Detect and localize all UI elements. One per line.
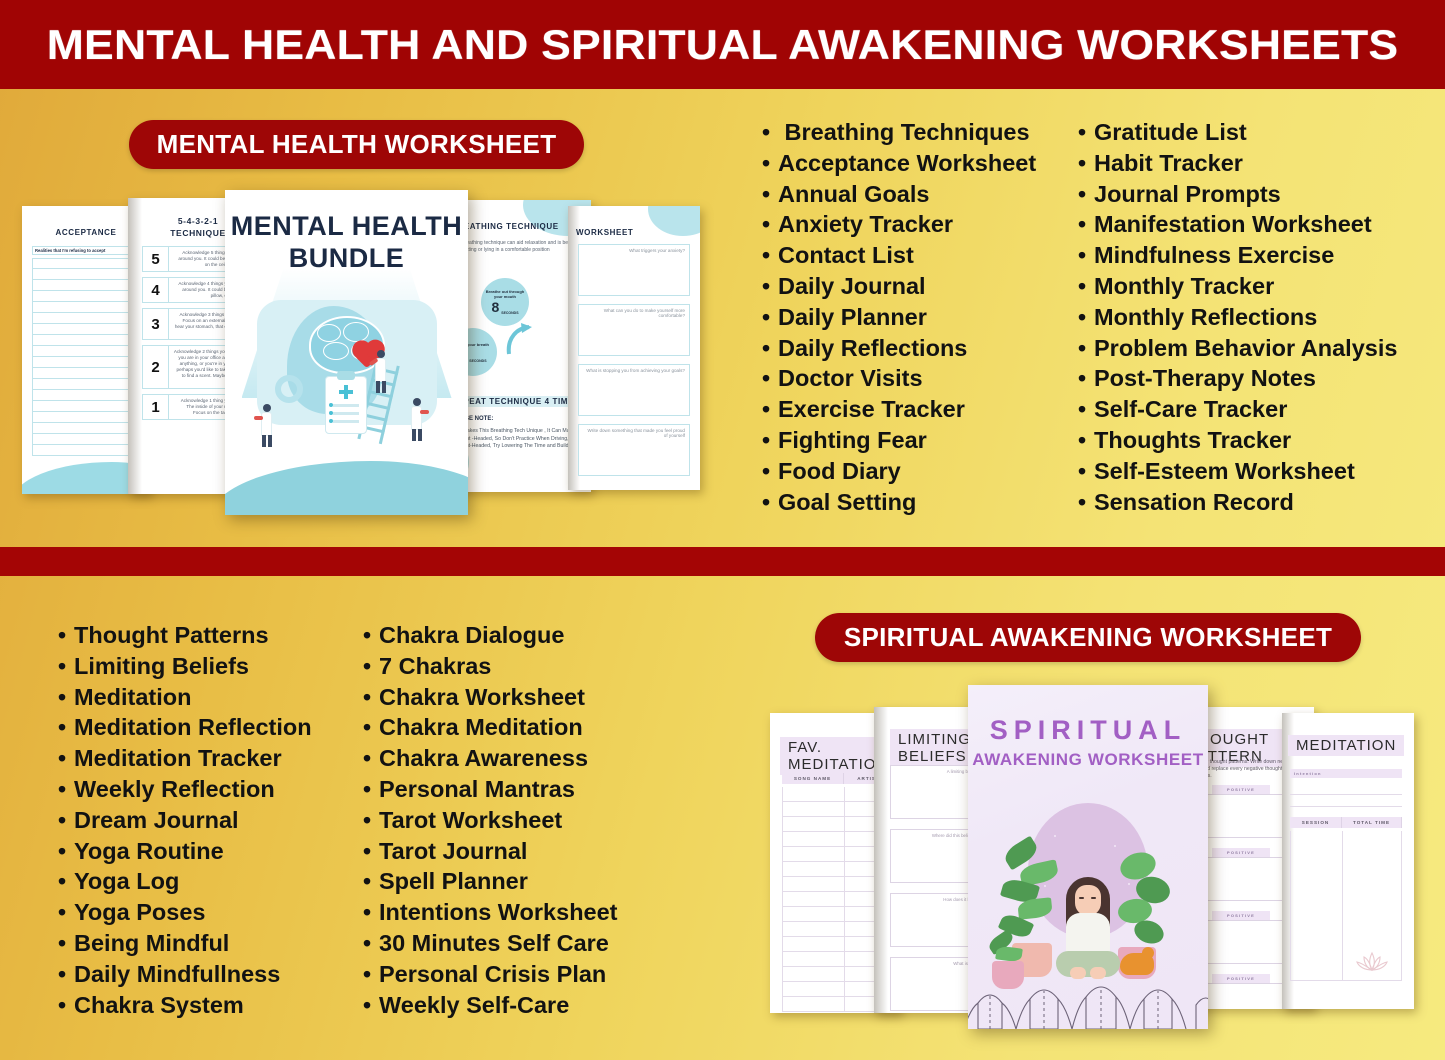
mockup-sheet-meditation: MEDITATION Intention SESSION TOTAL TIME <box>1282 713 1414 1009</box>
bullet-icon: • <box>1078 302 1094 333</box>
list-item-label: Chakra Awareness <box>379 743 588 774</box>
mental-health-mockup-group: ACCEPTANCE Realities that I'm refusing t… <box>18 190 718 515</box>
breathing-heading: BREATHING TECHNIQUE <box>451 222 587 231</box>
bullet-icon: • <box>58 897 74 928</box>
positive-tag: POSITIVE <box>1212 785 1270 794</box>
bullet-icon: • <box>58 836 74 867</box>
lotus-watermark-icon <box>1354 949 1390 973</box>
question-box: What can you do to make yourself more co… <box>578 304 690 356</box>
list-item: • Breathing Techniques <box>762 117 1036 148</box>
bullet-icon: • <box>58 959 74 990</box>
list-item-label: Manifestation Worksheet <box>1094 209 1372 240</box>
bullet-icon: • <box>363 774 379 805</box>
list-item-label: Chakra System <box>74 990 244 1021</box>
question-box: Write down something that made you feel … <box>578 424 690 476</box>
list-item-label: Yoga Routine <box>74 836 224 867</box>
cover-title: MENTAL HEALTH BUNDLE <box>225 210 468 274</box>
mockup-sheet-questions: WORKSHEET What triggers your anxiety?Wha… <box>568 206 700 490</box>
list-item: •Yoga Poses <box>58 897 312 928</box>
list-item-label: Chakra Dialogue <box>379 620 564 651</box>
list-item-label: Meditation Reflection <box>74 712 312 743</box>
bullet-icon: • <box>1078 333 1094 364</box>
meditation-intention-label: Intention <box>1290 769 1402 778</box>
list-item-label: Fighting Fear <box>778 425 927 456</box>
bullet-icon: • <box>762 179 778 210</box>
list-item: •Doctor Visits <box>762 363 1036 394</box>
mockup-cover-mental-health-bundle: MENTAL HEALTH BUNDLE <box>225 190 468 515</box>
technique-row-number: 4 <box>143 278 169 302</box>
list-item: •Goal Setting <box>762 487 1036 518</box>
bullet-icon: • <box>1078 117 1094 148</box>
list-item: •Dream Journal <box>58 805 312 836</box>
list-item: •Yoga Routine <box>58 836 312 867</box>
spiritual-awakening-worksheet-badge: SPIRITUAL AWAKENING WORKSHEET <box>815 613 1361 662</box>
list-item: •Chakra Meditation <box>363 712 618 743</box>
breathing-circle-1-unit: SECONDS <box>501 311 518 315</box>
list-item: •Daily Reflections <box>762 333 1036 364</box>
list-item-label: Mindfulness Exercise <box>1094 240 1334 271</box>
list-item-label: Daily Reflections <box>778 333 967 364</box>
list-item: •Thoughts Tracker <box>1078 425 1397 456</box>
question-box: What is stopping you from achieving your… <box>578 364 690 416</box>
list-item-label: Dream Journal <box>74 805 239 836</box>
breathing-arrow-icon <box>505 322 535 356</box>
bullet-icon: • <box>58 928 74 959</box>
positive-tag: POSITIVE <box>1212 974 1270 983</box>
bullet-icon: • <box>1078 363 1094 394</box>
list-item: •Daily Mindfullness <box>58 959 312 990</box>
technique-row-number: 3 <box>143 309 169 339</box>
column-header-song-name: SONG NAME <box>782 773 844 784</box>
bullet-icon: • <box>363 805 379 836</box>
list-item: •Being Mindful <box>58 928 312 959</box>
list-item: •Exercise Tracker <box>762 394 1036 425</box>
list-item: •Annual Goals <box>762 179 1036 210</box>
poster-canvas: MENTAL HEALTH AND SPIRITUAL AWAKENING WO… <box>0 0 1445 1060</box>
bullet-icon: • <box>363 959 379 990</box>
list-item-label: Journal Prompts <box>1094 179 1281 210</box>
list-item-label: Sensation Record <box>1094 487 1294 518</box>
bullet-icon: • <box>363 620 379 651</box>
breathing-circle-1: Breathe out through your mouth 8 SECONDS <box>481 278 529 326</box>
list-item-label: Weekly Reflection <box>74 774 275 805</box>
spiritual-awakening-list-column-2: •Chakra Dialogue•7 Chakras•Chakra Worksh… <box>363 620 618 1020</box>
list-item: •Tarot Journal <box>363 836 618 867</box>
list-item: •Self-Esteem Worksheet <box>1078 456 1397 487</box>
list-item-label: Thoughts Tracker <box>1094 425 1291 456</box>
bullet-icon: • <box>363 897 379 928</box>
list-item-label: Exercise Tracker <box>778 394 965 425</box>
bullet-icon: • <box>58 774 74 805</box>
list-item-label: 7 Chakras <box>379 651 491 682</box>
list-item-label: Chakra Meditation <box>379 712 583 743</box>
list-item-label: Breathing Techniques <box>778 117 1030 148</box>
list-item-label: Goal Setting <box>778 487 916 518</box>
list-item: •Personal Mantras <box>363 774 618 805</box>
list-item: •Acceptance Worksheet <box>762 148 1036 179</box>
list-item: •Meditation Tracker <box>58 743 312 774</box>
acceptance-lines <box>32 258 142 456</box>
page-title: MENTAL HEALTH AND SPIRITUAL AWAKENING WO… <box>47 21 1399 69</box>
list-item: •Tarot Worksheet <box>363 805 618 836</box>
bullet-icon: • <box>762 456 778 487</box>
list-item-label: Personal Mantras <box>379 774 575 805</box>
list-item-label: Intentions Worksheet <box>379 897 618 928</box>
technique-row-number: 1 <box>143 395 169 419</box>
technique-row-number: 5 <box>143 247 169 271</box>
mental-health-worksheet-badge: MENTAL HEALTH WORKSHEET <box>129 120 584 169</box>
bullet-icon: • <box>363 712 379 743</box>
list-item-label: Anxiety Tracker <box>778 209 953 240</box>
list-item-label: Habit Tracker <box>1094 148 1243 179</box>
list-item-label: Daily Mindfullness <box>74 959 280 990</box>
list-item: •Thought Patterns <box>58 620 312 651</box>
list-item: •Personal Crisis Plan <box>363 959 618 990</box>
bullet-icon: • <box>363 651 379 682</box>
list-item: •Intentions Worksheet <box>363 897 618 928</box>
bullet-icon: • <box>363 928 379 959</box>
list-item: •Habit Tracker <box>1078 148 1397 179</box>
column-header-session: SESSION <box>1290 817 1342 828</box>
cover-title-line-1: MENTAL HEALTH <box>225 210 468 242</box>
list-item: •Manifestation Worksheet <box>1078 209 1397 240</box>
list-item: •Meditation <box>58 682 312 713</box>
bullet-icon: • <box>58 990 74 1021</box>
list-item: •30 Minutes Self Care <box>363 928 618 959</box>
list-item: •Daily Journal <box>762 271 1036 302</box>
list-item: •Fighting Fear <box>762 425 1036 456</box>
section-divider <box>0 547 1445 576</box>
list-item-label: Thought Patterns <box>74 620 269 651</box>
list-item-label: Doctor Visits <box>778 363 923 394</box>
list-item-label: Yoga Poses <box>74 897 205 928</box>
list-item: •Contact List <box>762 240 1036 271</box>
list-item-label: Post-Therapy Notes <box>1094 363 1316 394</box>
breathing-intro: This breathing technique can aid relaxat… <box>451 240 583 254</box>
breathing-circle-1-caption: Breathe out through your mouth <box>481 289 529 299</box>
list-item: •Sensation Record <box>1078 487 1397 518</box>
spiritual-awakening-mockup-group: FAV. MEDITATION SONG NAME ARTIST LIMITIN… <box>762 685 1432 1035</box>
bullet-icon: • <box>363 866 379 897</box>
question-box: What triggers your anxiety? <box>578 244 690 296</box>
bullet-icon: • <box>1078 240 1094 271</box>
technique-row-number: 2 <box>143 346 169 388</box>
list-item-label: Limiting Beliefs <box>74 651 249 682</box>
list-item-label: Food Diary <box>778 456 901 487</box>
list-item: •Anxiety Tracker <box>762 209 1036 240</box>
bullet-icon: • <box>58 866 74 897</box>
list-item: •Chakra Awareness <box>363 743 618 774</box>
list-item-label: Contact List <box>778 240 914 271</box>
list-item-label: Daily Planner <box>778 302 927 333</box>
bullet-icon: • <box>1078 456 1094 487</box>
meditation-table-header: SESSION TOTAL TIME <box>1290 817 1402 828</box>
bullet-icon: • <box>58 712 74 743</box>
breathing-circle-1-value: 8 <box>491 299 499 315</box>
bullet-icon: • <box>58 743 74 774</box>
bullet-icon: • <box>1078 148 1094 179</box>
bullet-icon: • <box>58 805 74 836</box>
cover-wave-dark <box>225 461 468 515</box>
list-item-label: Acceptance Worksheet <box>778 148 1036 179</box>
breathing-note-body: What Makes This Breathing Tech Unique , … <box>449 428 585 458</box>
bullet-icon: • <box>762 487 778 518</box>
list-item-label: Meditation <box>74 682 192 713</box>
list-item: •Chakra Dialogue <box>363 620 618 651</box>
bullet-icon: • <box>762 117 778 148</box>
breathing-repeat-note: REPEAT TECHNIQUE 4 TIMES <box>449 396 587 407</box>
bullet-icon: • <box>1078 425 1094 456</box>
bullet-icon: • <box>1078 209 1094 240</box>
acceptance-subheading: Realities that I'm refusing to accept <box>32 246 142 255</box>
bullet-icon: • <box>762 425 778 456</box>
column-header-total-time: TOTAL TIME <box>1342 817 1402 828</box>
list-item: •Food Diary <box>762 456 1036 487</box>
bullet-icon: • <box>1078 487 1094 518</box>
bullet-icon: • <box>363 743 379 774</box>
bullet-icon: • <box>363 682 379 713</box>
gear-icon <box>275 375 303 403</box>
bullet-icon: • <box>1078 179 1094 210</box>
mockup-cover-spiritual-awakening: SPIRITUAL AWAKENING WORKSHEET <box>968 685 1208 1029</box>
list-item: •Meditation Reflection <box>58 712 312 743</box>
clipboard-icon <box>325 376 367 434</box>
bullet-icon: • <box>762 302 778 333</box>
list-item: •Chakra System <box>58 990 312 1021</box>
bullet-icon: • <box>363 836 379 867</box>
list-item-label: Self-Esteem Worksheet <box>1094 456 1355 487</box>
spiritual-cover-title-line-1: SPIRITUAL <box>968 715 1208 746</box>
meditation-heading: MEDITATION <box>1288 735 1404 756</box>
list-item-label: Meditation Tracker <box>74 743 282 774</box>
list-item-label: Self-Care Tracker <box>1094 394 1287 425</box>
bullet-icon: • <box>762 394 778 425</box>
list-item-label: Daily Journal <box>778 271 926 302</box>
bullet-icon: • <box>1078 394 1094 425</box>
list-item-label: Weekly Self-Care <box>379 990 569 1021</box>
questions-heading: WORKSHEET <box>576 228 633 237</box>
bullet-icon: • <box>762 240 778 271</box>
list-item: •Gratitude List <box>1078 117 1397 148</box>
list-item: •Post-Therapy Notes <box>1078 363 1397 394</box>
list-item: •Limiting Beliefs <box>58 651 312 682</box>
list-item-label: Being Mindful <box>74 928 229 959</box>
bullet-icon: • <box>762 148 778 179</box>
list-item-label: Problem Behavior Analysis <box>1094 333 1397 364</box>
list-item: •Spell Planner <box>363 866 618 897</box>
list-item: •Problem Behavior Analysis <box>1078 333 1397 364</box>
spiritual-cover-title-line-2: AWAKENING WORKSHEET <box>968 750 1208 770</box>
list-item: •Weekly Reflection <box>58 774 312 805</box>
positive-tag: POSITIVE <box>1212 911 1270 920</box>
bullet-icon: • <box>58 651 74 682</box>
list-item: •Mindfulness Exercise <box>1078 240 1397 271</box>
positive-tag: POSITIVE <box>1212 848 1270 857</box>
bullet-icon: • <box>363 990 379 1021</box>
list-item: •Monthly Tracker <box>1078 271 1397 302</box>
mental-health-list-column-2: •Gratitude List•Habit Tracker•Journal Pr… <box>1078 117 1397 517</box>
list-item: •Daily Planner <box>762 302 1036 333</box>
bullet-icon: • <box>58 682 74 713</box>
list-item-label: Yoga Log <box>74 866 179 897</box>
list-item-label: Tarot Journal <box>379 836 527 867</box>
list-item: •Journal Prompts <box>1078 179 1397 210</box>
list-item: •Chakra Worksheet <box>363 682 618 713</box>
breathing-circle-2-unit: SECONDS <box>469 359 486 363</box>
bullet-icon: • <box>762 271 778 302</box>
questions-boxes: What triggers your anxiety?What can you … <box>578 244 690 484</box>
list-item-label: Tarot Worksheet <box>379 805 562 836</box>
bullet-icon: • <box>762 363 778 394</box>
bullet-icon: • <box>58 620 74 651</box>
poster-header-banner: MENTAL HEALTH AND SPIRITUAL AWAKENING WO… <box>0 0 1445 89</box>
list-item-label: Spell Planner <box>379 866 528 897</box>
list-item-label: Gratitude List <box>1094 117 1247 148</box>
bullet-icon: • <box>1078 271 1094 302</box>
list-item-label: 30 Minutes Self Care <box>379 928 609 959</box>
list-item: •7 Chakras <box>363 651 618 682</box>
list-item: •Monthly Reflections <box>1078 302 1397 333</box>
list-item-label: Monthly Reflections <box>1094 302 1317 333</box>
bullet-icon: • <box>762 333 778 364</box>
list-item-label: Chakra Worksheet <box>379 682 585 713</box>
spiritual-awakening-list-column-1: •Thought Patterns•Limiting Beliefs•Medit… <box>58 620 312 1020</box>
list-item-label: Personal Crisis Plan <box>379 959 606 990</box>
list-item-label: Annual Goals <box>778 179 929 210</box>
lotus-mandala-border-icon <box>968 969 1208 1029</box>
list-item: •Yoga Log <box>58 866 312 897</box>
mental-health-list-column-1: • Breathing Techniques•Acceptance Worksh… <box>762 117 1036 517</box>
list-item: •Weekly Self-Care <box>363 990 618 1021</box>
bullet-icon: • <box>762 209 778 240</box>
list-item: •Self-Care Tracker <box>1078 394 1397 425</box>
list-item-label: Monthly Tracker <box>1094 271 1274 302</box>
